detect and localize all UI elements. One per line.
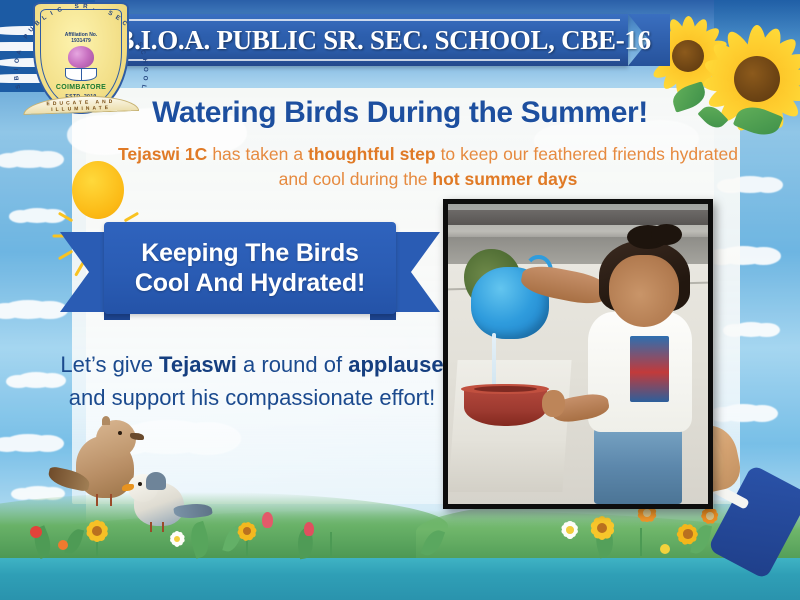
closing-student-name: Tejaswi: [159, 352, 237, 377]
ribbon-line-2: Cool And Hydrated!: [135, 268, 365, 299]
flower-icon: [560, 520, 580, 540]
photo-shirt-print: [630, 336, 669, 402]
flower-icon: [30, 526, 42, 538]
photo-girl-jeans: [594, 423, 682, 504]
activity-photo: [448, 204, 708, 504]
closing-text: Let’s give Tejaswi a round of applause a…: [58, 348, 446, 415]
photo-platform: [449, 360, 573, 492]
logo-arc-char: R: [83, 3, 88, 10]
page-title: Watering Birds During the Summer!: [110, 96, 690, 130]
logo-book-icon: [65, 68, 97, 81]
logo-arc-char: O: [142, 67, 149, 72]
closing-part5: and support his compassionate effort!: [69, 385, 435, 410]
flower-icon: [236, 520, 258, 542]
closing-part1: Let’s give: [60, 352, 159, 377]
logo-affiliation: Affiliation No. 1931479: [33, 32, 129, 45]
logo-arc-char: S: [107, 9, 114, 17]
photo-girl-hair-bun-right: [651, 224, 682, 245]
subtitle-highlight-1: thoughtful step: [308, 144, 435, 164]
ribbon-line-1: Keeping The Birds: [141, 238, 358, 269]
flower-icon: [58, 540, 68, 550]
logo-arc-char: B: [13, 75, 20, 80]
logo-arc-char: E: [114, 14, 121, 22]
closing-applause: applause: [348, 352, 443, 377]
activity-photo-frame: [443, 199, 713, 509]
bird-icon: [122, 466, 208, 536]
logo-arc-char: [100, 7, 104, 14]
logo-arc-char: I: [13, 68, 20, 70]
highlight-ribbon-banner: Keeping The Birds Cool And Hydrated!: [60, 222, 440, 322]
logo-arc-char: C: [120, 19, 128, 27]
logo-lotus-icon: [68, 46, 94, 68]
subtitle-highlight-2: hot summer days: [432, 169, 577, 189]
subtitle-part2: has taken a: [207, 144, 308, 164]
header-ribbon: S.B.I.O.A. PUBLIC SR. SEC. SCHOOL, CBE-1…: [118, 14, 670, 66]
subtitle-student-name: Tejaswi 1C: [118, 144, 207, 164]
ribbon-panel: Keeping The Birds Cool And Hydrated!: [104, 222, 396, 314]
flower-icon: [304, 522, 314, 536]
photo-girl-fist: [542, 390, 565, 417]
logo-arc-char: I: [49, 10, 54, 17]
logo-affiliation-label: Affiliation No.: [65, 32, 98, 38]
logo-arc-char: S: [74, 3, 79, 10]
photo-girl-face: [609, 255, 679, 327]
logo-arc-char: .: [92, 4, 95, 11]
closing-part3: a round of: [237, 352, 348, 377]
flower-icon: [588, 514, 616, 542]
logo-arc-char: O: [13, 58, 21, 64]
photo-red-bowl: [464, 387, 547, 426]
subtitle-text: Tejaswi 1C has taken a thoughtful step t…: [118, 142, 738, 193]
flower-icon: [262, 512, 273, 528]
logo-motto-banner: EDUCATE AND ILLUMINATE: [17, 88, 145, 124]
logo-affiliation-number: 1931479: [71, 38, 90, 44]
school-logo: SBIOA PUBLIC SR. SEC. SCHOOL Affiliation…: [33, 2, 129, 120]
school-name-title: S.B.I.O.A. PUBLIC SR. SEC. SCHOOL, CBE-1…: [118, 14, 628, 66]
poster-canvas: S.B.I.O.A. PUBLIC SR. SEC. SCHOOL, CBE-1…: [0, 0, 800, 600]
logo-arc-char: O: [141, 75, 148, 81]
logo-arc-char: L: [41, 14, 48, 22]
flower-icon: [84, 518, 110, 544]
logo-arc-char: B: [34, 19, 42, 27]
